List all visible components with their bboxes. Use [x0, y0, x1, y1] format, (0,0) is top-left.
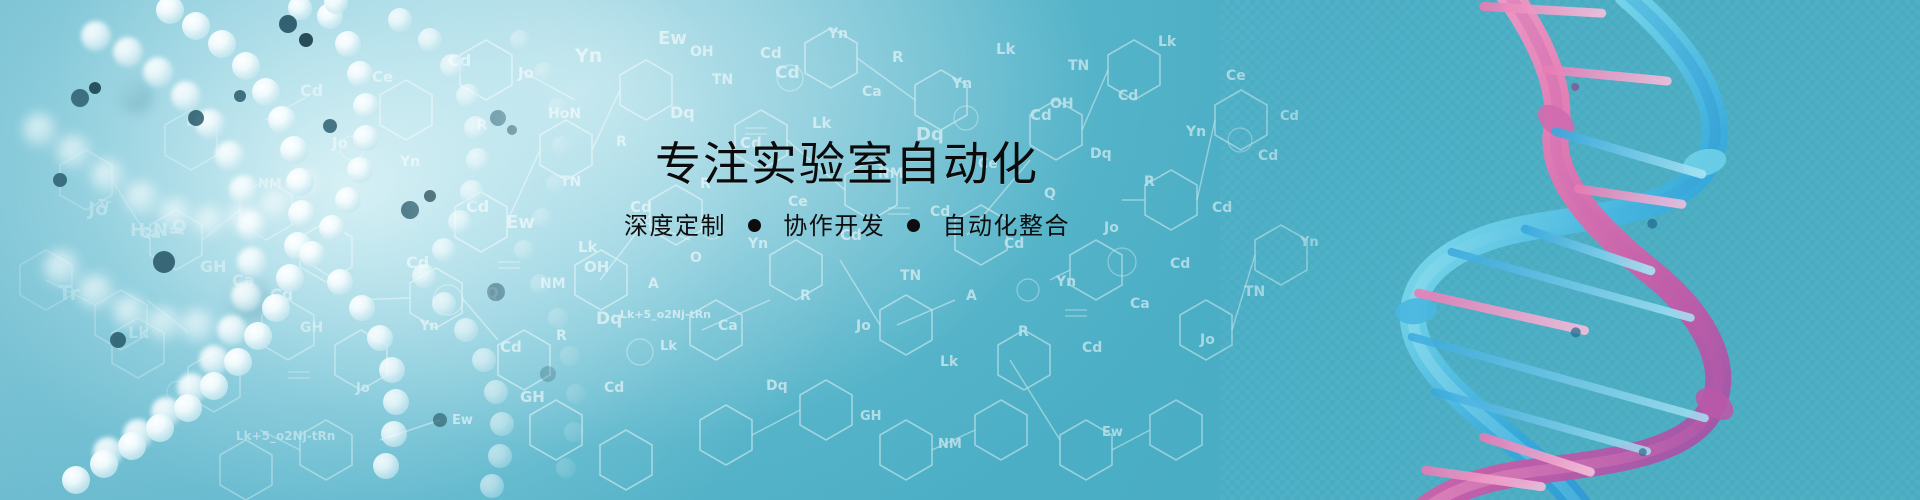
page-title: 专注实验室自动化 — [612, 140, 1082, 190]
bullet-dot-icon — [748, 219, 761, 232]
hero-banner: Tr Jo Tr Lk Ca Q Lk H₂N= GH Ca Cd NM Cd … — [0, 0, 1920, 500]
banner-subtitle: 深度定制 协作开发 自动化整合 — [612, 206, 1082, 241]
dna-ribbon-helix — [0, 0, 1920, 500]
subtitle-item-2: 协作开发 — [783, 206, 885, 241]
banner-text-block: 专注实验室自动化 深度定制 协作开发 自动化整合 — [612, 140, 1082, 241]
subtitle-item-3: 自动化整合 — [943, 206, 1071, 241]
subtitle-item-1: 深度定制 — [624, 206, 726, 241]
bullet-dot-icon — [907, 219, 920, 232]
